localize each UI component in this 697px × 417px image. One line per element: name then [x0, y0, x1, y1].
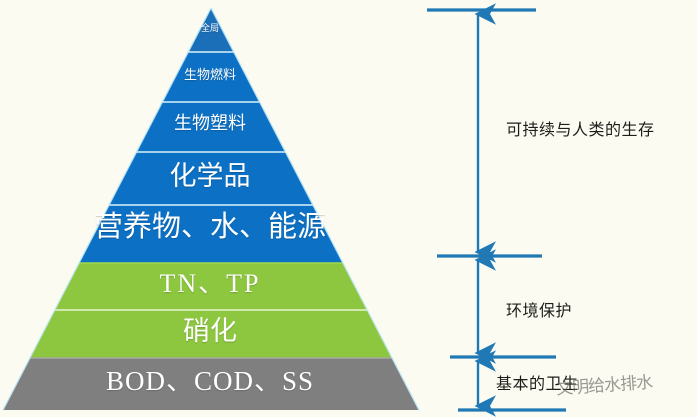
pyramid-band-6 [0, 263, 420, 310]
pyramid-band-8 [0, 358, 420, 417]
bracket-annotations [420, 0, 697, 417]
pyramid-band-7 [0, 310, 420, 358]
bracket-label-sanitation: 基本的卫生 [496, 377, 579, 393]
pyramid-shape [0, 0, 420, 417]
pyramid-band-5 [0, 205, 420, 263]
bracket-label-sustainability: 可持续与人类的生存 [506, 123, 655, 139]
pyramid-band-1 [0, 0, 420, 52]
pyramid-diagram: 全局 生物燃料 生物塑料 化学品 营养物、水、能源 TN、TP 硝化 BOD、C… [0, 0, 420, 417]
pyramid-band-2 [0, 52, 420, 102]
bracket-ticks [427, 10, 566, 410]
pyramid-band-4 [0, 152, 420, 205]
pyramid-band-3 [0, 102, 420, 152]
diagram-canvas: 全局 生物燃料 生物塑料 化学品 营养物、水、能源 TN、TP 硝化 BOD、C… [0, 0, 697, 417]
bracket-label-environment: 环境保护 [506, 304, 572, 320]
